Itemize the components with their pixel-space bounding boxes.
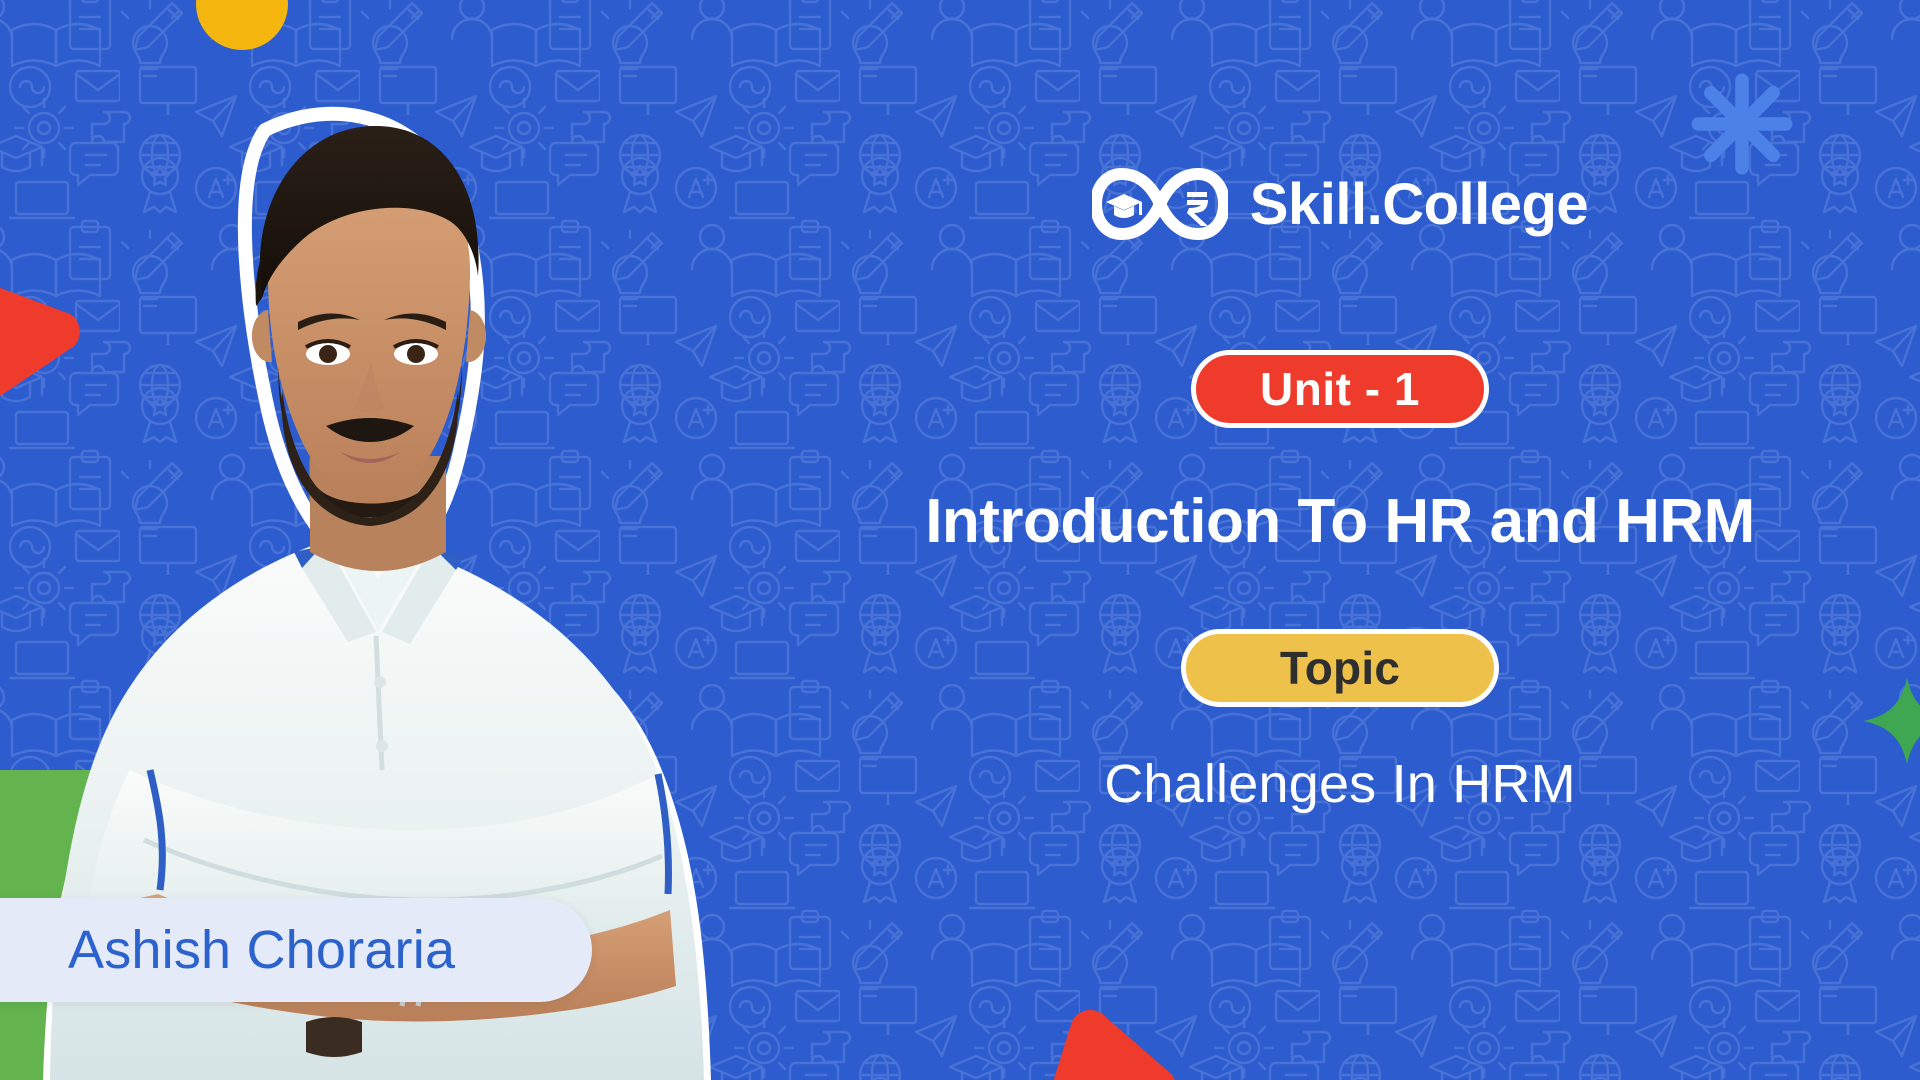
topic-badge-label: Topic [1280,641,1400,695]
course-title-slide: Ashish Choraria Skill [0,0,1920,1080]
presenter-name-plate: Ashish Choraria [0,898,592,1002]
unit-badge-label: Unit - 1 [1260,362,1420,416]
graduation-cap-icon [1106,194,1142,218]
infinity-graduation-rupee-logo-icon [1092,168,1228,240]
topic-title: Challenges In HRM [1104,753,1576,815]
topic-badge: Topic [1181,629,1499,707]
unit-badge: Unit - 1 [1191,350,1489,428]
brand-lockup: Skill.College [1092,168,1588,240]
yellow-circle-decoration [196,0,288,50]
unit-title: Introduction To HR and HRM [925,486,1755,557]
red-triangle-left-decoration [0,272,82,400]
rupee-icon [1187,192,1208,226]
brand-name: Skill.College [1250,171,1588,238]
presenter-name: Ashish Choraria [68,919,455,981]
slide-content-column: Skill.College Unit - 1 Introduction To H… [760,0,1920,1080]
